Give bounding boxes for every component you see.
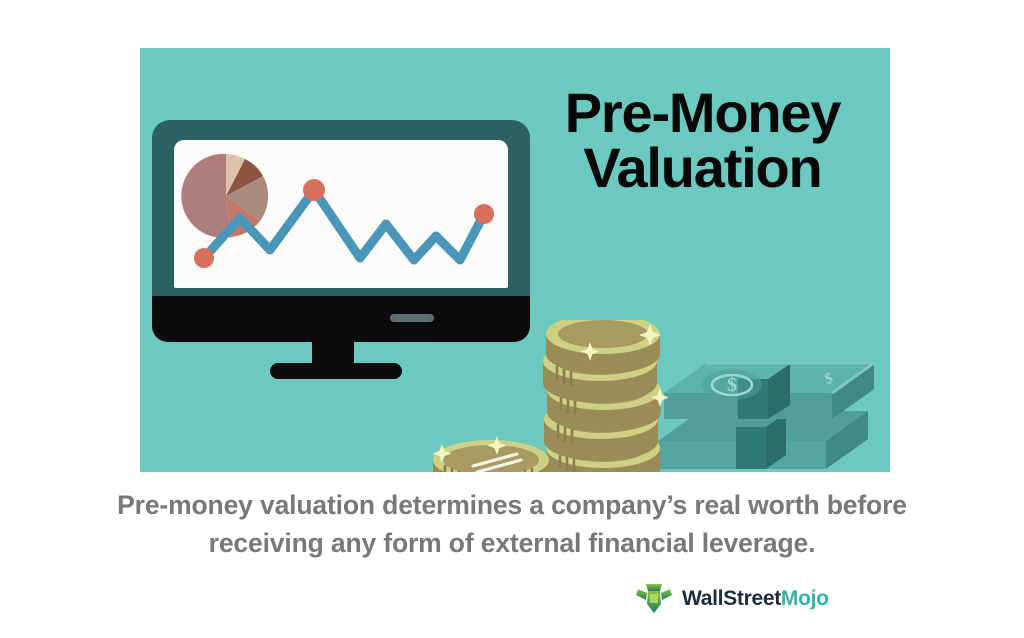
monitor-chin	[152, 296, 530, 342]
monitor-screen	[174, 140, 508, 288]
wallstreetmojo-bull-mark	[634, 580, 674, 618]
coin	[546, 320, 660, 374]
hero-illustration-panel: Pre-Money Valuation	[140, 48, 890, 472]
banknote-bundle-lower	[658, 411, 868, 469]
banknote-bundle-upper: $ $	[664, 363, 874, 419]
pie-chart	[174, 140, 508, 288]
line-chart-marker	[474, 204, 494, 224]
caption-text: Pre-money valuation determines a company…	[0, 487, 1024, 562]
coin-stack-short	[425, 416, 565, 472]
wallstreetmojo-logo[interactable]: WallStreetMojo	[634, 580, 829, 618]
line-chart-marker	[194, 248, 214, 268]
dollar-symbol: $	[727, 374, 737, 396]
logo-brand-secondary: Mojo	[781, 587, 829, 610]
line-chart-marker	[303, 179, 325, 201]
page-title: Pre-Money Valuation	[530, 86, 875, 196]
banknote-bundle: $ $	[640, 323, 890, 472]
monitor-stand-base	[270, 363, 402, 379]
logo-brand-primary: WallStreet	[682, 587, 781, 610]
logo-wordmark: WallStreetMojo	[682, 587, 829, 611]
monitor-power-indicator	[390, 314, 434, 322]
desktop-monitor	[152, 120, 530, 367]
